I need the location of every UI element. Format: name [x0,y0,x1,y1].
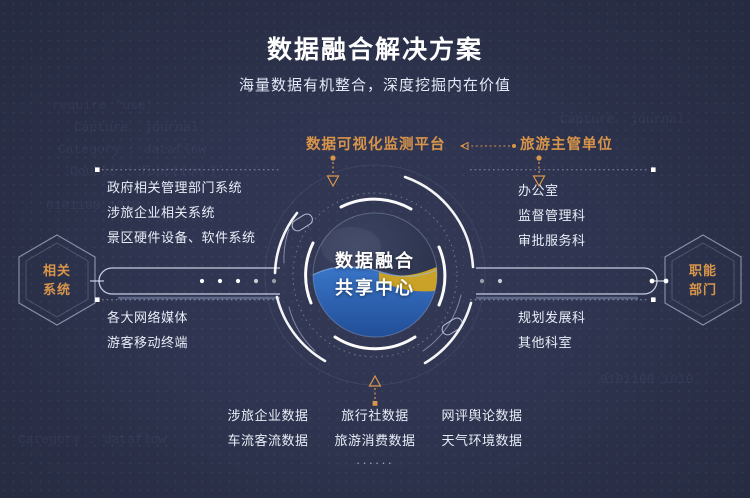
hexagon-left-label: 相关 系统 [14,232,100,328]
table-row: 涉旅企业数据 旅行社数据 网评舆论数据 [216,405,534,424]
ghost-line-8: 0101100 1010 [600,370,694,389]
list-item: 政府相关管理部门系统 [107,175,256,200]
ghost-line-9: Category : dataflow [18,430,166,449]
group-departments-upper: 办公室 监督管理科 审批服务科 [518,178,586,253]
bottom-data-ellipsis: ······ [216,455,534,470]
list-item: 监督管理科 [518,203,586,228]
feeder-arrow-data-sources [368,375,382,407]
ghost-line-2: Capture journal [74,118,199,137]
group-related-systems-sources: 政府相关管理部门系统 涉旅企业相关系统 景区硬件设备、软件系统 [107,175,256,250]
list-item: 游客移动终端 [107,330,188,355]
hexagon-right-line1: 职能 [689,261,717,280]
hub-label: 数据融合 共享中心 [255,155,495,395]
list-item: 旅游消费数据 [323,430,427,449]
list-item: 各大网络媒体 [107,305,188,330]
list-item: 旅行社数据 [323,405,427,424]
list-item: 规划发展科 [518,305,586,330]
hexagon-right-label: 职能 部门 [660,232,746,328]
divider-left-top [95,166,281,173]
header-tourism-authority: 旅游主管单位 [520,133,613,154]
feeder-arrow-platform [326,155,340,189]
hexagon-right-line2: 部门 [689,280,717,299]
bottom-data-sources: 涉旅企业数据 旅行社数据 网评舆论数据 车流客流数据 旅游消费数据 天气环境数据… [216,405,534,470]
page-title: 数据融合解决方案 [0,30,750,66]
list-item: 涉旅企业相关系统 [107,200,256,225]
ghost-line-7: Capture journal [560,110,685,129]
ghost-line-3: Category : dataflow [58,140,206,159]
list-item: 其他科室 [518,330,586,355]
divider-right-bottom [470,296,656,303]
list-item: 网评舆论数据 [430,405,534,424]
divider-right-top [470,166,656,173]
hub-label-line2: 共享中心 [335,275,415,302]
infographic-canvas: require 'use' Capture journal Category :… [0,0,750,498]
list-item: 涉旅企业数据 [216,405,320,424]
hexagon-left-line1: 相关 [43,261,71,280]
hexagon-functional-departments[interactable]: 职能 部门 [660,232,746,328]
ghost-line-1: require 'use' [52,96,153,115]
group-departments-lower: 规划发展科 其他科室 [518,305,586,355]
page-subtitle: 海量数据有机整合，深度挖掘内在价值 [0,74,750,95]
divider-left-bottom [95,296,281,303]
list-item: 天气环境数据 [430,430,534,449]
hub-label-line1: 数据融合 [335,248,415,275]
group-media-terminals: 各大网络媒体 游客移动终端 [107,305,188,355]
hexagon-left-line2: 系统 [43,280,71,299]
hexagon-related-systems[interactable]: 相关 系统 [14,232,100,328]
list-item: 审批服务科 [518,228,586,253]
list-item: 景区硬件设备、软件系统 [107,225,256,250]
header-connector-arrow [452,141,518,151]
table-row: 车流客流数据 旅游消费数据 天气环境数据 [216,430,534,449]
list-item: 车流客流数据 [216,430,320,449]
list-item: 办公室 [518,178,586,203]
header-visualization-platform: 数据可视化监测平台 [306,133,446,154]
